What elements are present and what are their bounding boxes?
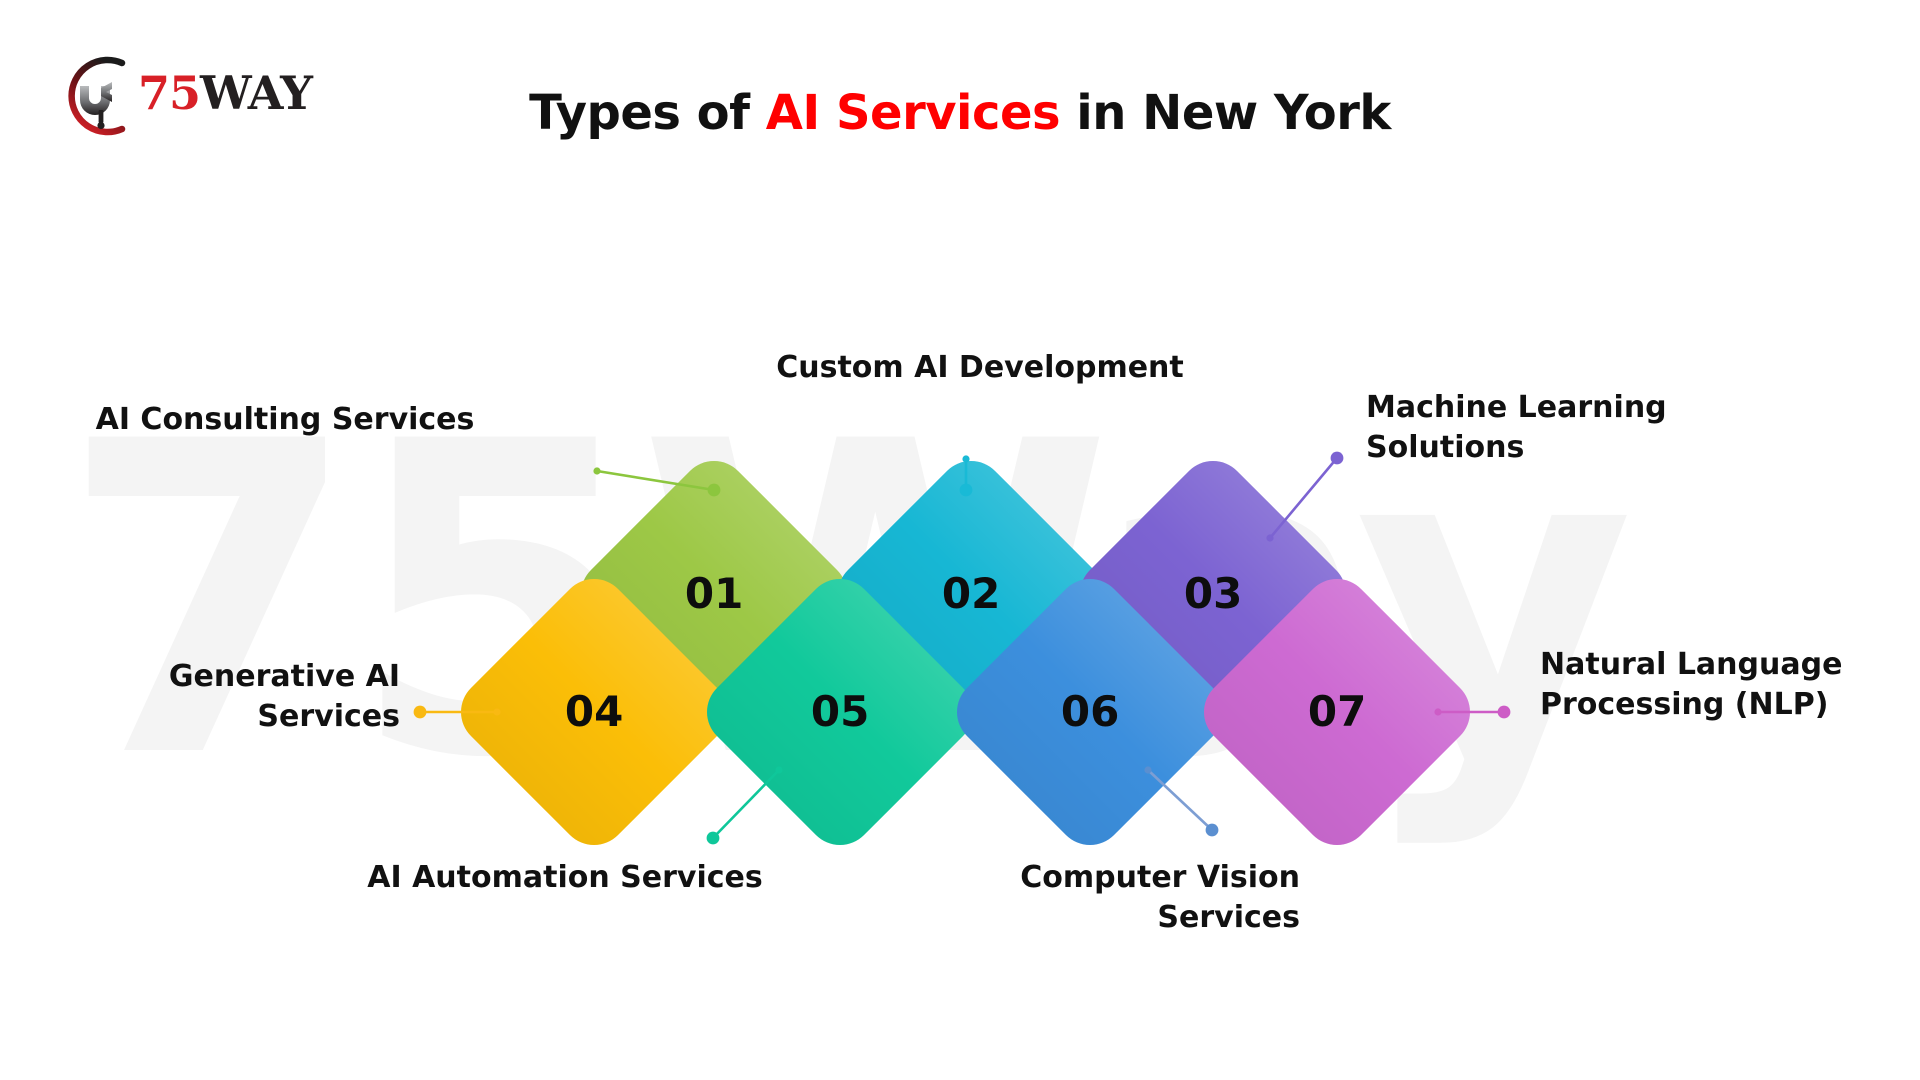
connector-dot-inner-01 [593, 467, 600, 474]
connector-dot-outer-06 [1206, 824, 1219, 837]
title-prefix: Types of [529, 85, 766, 141]
service-label-01: AI Consulting Services [0, 400, 570, 440]
service-label-06: Computer Vision Services [930, 858, 1300, 937]
service-label-04: Generative AI Services [60, 657, 400, 736]
connector-dot-inner-03 [1266, 534, 1273, 541]
connector-dot-outer-03 [1331, 452, 1344, 465]
title-suffix: in New York [1060, 85, 1391, 141]
connector-line-01 [597, 471, 714, 490]
connector-line-06 [1148, 770, 1212, 830]
connector-dot-inner-06 [1144, 766, 1151, 773]
connector-dot-outer-01 [708, 484, 721, 497]
connector-line-05 [713, 770, 779, 838]
page-title: Types of AI Services in New York [0, 85, 1920, 141]
connector-dot-inner-04 [493, 708, 500, 715]
service-label-07: Natural Language Processing (NLP) [1540, 645, 1920, 724]
connector-dot-outer-07 [1498, 706, 1511, 719]
service-label-02: Custom AI Development [700, 348, 1260, 388]
header: 75WAY Types of AI Services in New York [0, 0, 1920, 200]
service-label-05: AI Automation Services [300, 858, 830, 898]
connector-dot-inner-07 [1434, 708, 1441, 715]
connector-dot-inner-02 [962, 455, 969, 462]
service-label-03: Machine Learning Solutions [1366, 388, 1796, 467]
connector-dot-outer-04 [414, 706, 427, 719]
connector-dot-outer-02 [960, 484, 973, 497]
connector-dot-inner-05 [775, 766, 782, 773]
connector-line-03 [1270, 458, 1337, 538]
title-accent: AI Services [766, 85, 1060, 141]
connector-dot-outer-05 [707, 832, 720, 845]
